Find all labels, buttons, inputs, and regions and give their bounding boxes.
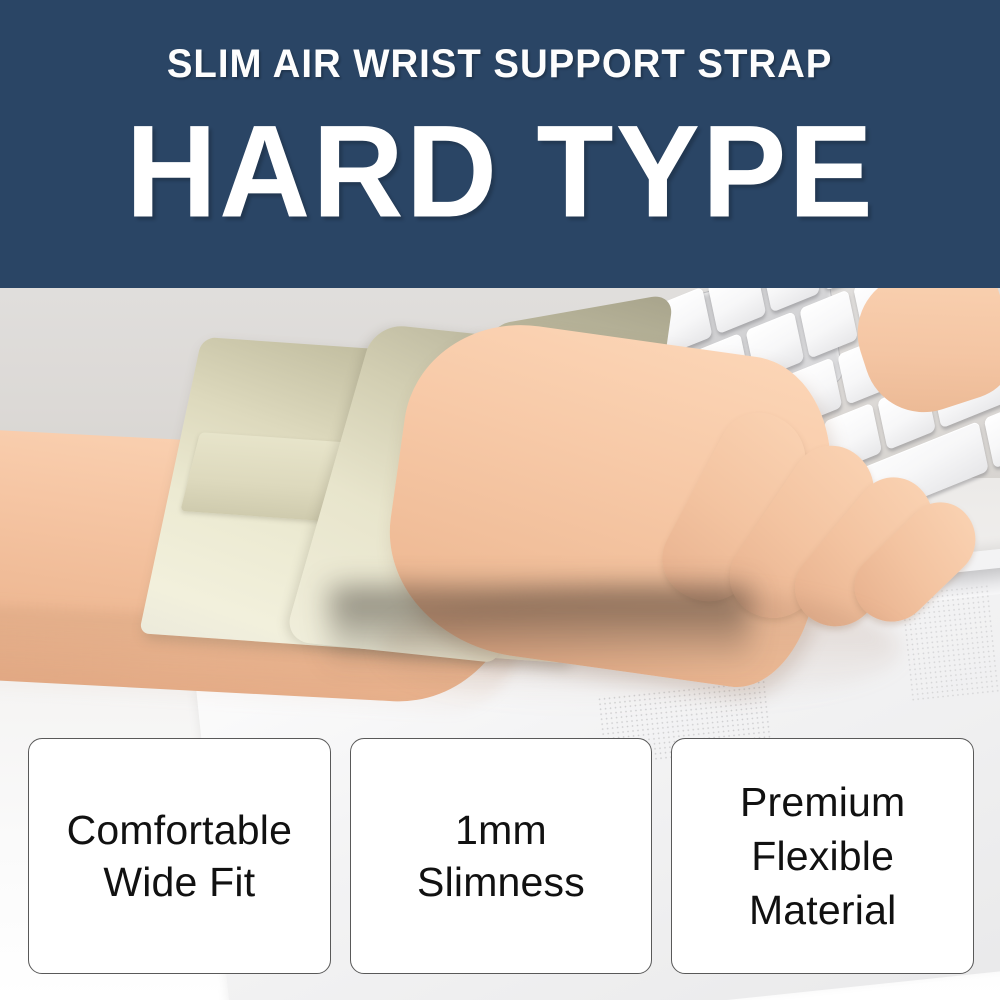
feature-card-list: ComfortableWide Fit 1mmSlimness PremiumF…	[28, 738, 974, 974]
banner-title: HARD TYPE	[125, 106, 874, 237]
banner-subtitle: SLIM AIR WRIST SUPPORT STRAP	[167, 44, 832, 84]
keyboard-key	[799, 289, 858, 358]
header-banner: SLIM AIR WRIST SUPPORT STRAP HARD TYPE	[0, 0, 1000, 288]
product-poster: SLIM AIR WRIST SUPPORT STRAP HARD TYPE	[0, 0, 1000, 1000]
photo-shadow-band	[330, 588, 750, 668]
feature-card-label: 1mmSlimness	[411, 804, 591, 909]
feature-card-comfortable-wide-fit[interactable]: ComfortableWide Fit	[28, 738, 331, 974]
feature-card-1mm-slimness[interactable]: 1mmSlimness	[350, 738, 653, 974]
feature-card-label: ComfortableWide Fit	[61, 804, 299, 909]
feature-card-label: PremiumFlexibleMaterial	[734, 775, 911, 937]
feature-card-premium-flexible-material[interactable]: PremiumFlexibleMaterial	[671, 738, 974, 974]
